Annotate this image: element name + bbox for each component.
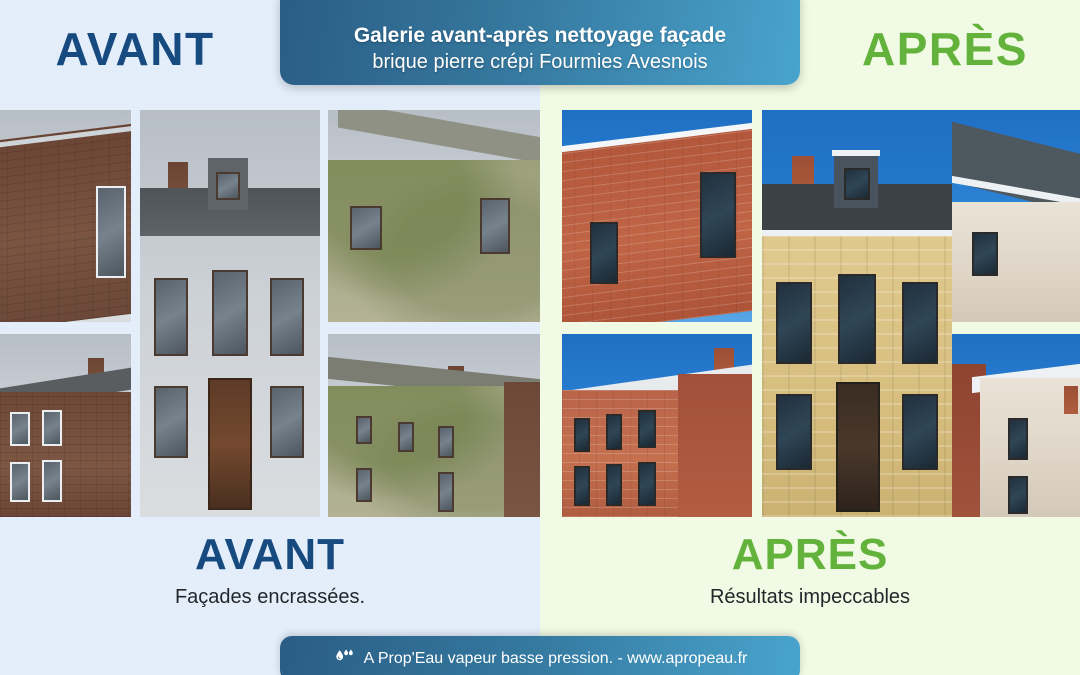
photo-before-5[interactable]	[328, 334, 540, 517]
before-photo-grid	[0, 110, 540, 517]
photo-after-3[interactable]	[952, 110, 1080, 322]
after-caption: APRÈS Résultats impeccables	[540, 530, 1080, 609]
after-photo-grid	[540, 110, 1080, 517]
photo-after-2[interactable]	[762, 110, 952, 517]
after-caption-subtitle: Résultats impeccables	[540, 586, 1080, 609]
header-banner: Galerie avant-après nettoyage façade bri…	[280, 0, 800, 85]
header-title-line2: brique pierre crépi Fourmies Avesnois	[372, 49, 707, 75]
gallery-poster: AVANT APRÈS Galerie avant-après nettoyag…	[0, 0, 1080, 675]
before-caption: AVANT Façades encrassées.	[0, 530, 540, 609]
photo-after-5[interactable]	[952, 334, 1080, 517]
before-heading: AVANT	[0, 22, 270, 76]
photo-before-1[interactable]	[0, 110, 131, 322]
footer-bar: A Prop'Eau vapeur basse pression. - www.…	[280, 636, 800, 675]
photo-before-3[interactable]	[328, 110, 540, 322]
header-title-line1: Galerie avant-après nettoyage façade	[354, 23, 726, 49]
photo-before-2[interactable]	[140, 110, 320, 517]
water-droplet-icon	[333, 648, 355, 670]
photo-after-1[interactable]	[562, 110, 752, 322]
before-caption-subtitle: Façades encrassées.	[0, 586, 540, 609]
photo-before-4[interactable]	[0, 334, 131, 517]
after-heading: APRÈS	[810, 22, 1080, 76]
before-caption-title: AVANT	[0, 530, 540, 580]
photo-after-4[interactable]	[562, 334, 752, 517]
footer-text: A Prop'Eau vapeur basse pression. - www.…	[364, 650, 748, 668]
after-caption-title: APRÈS	[540, 530, 1080, 580]
